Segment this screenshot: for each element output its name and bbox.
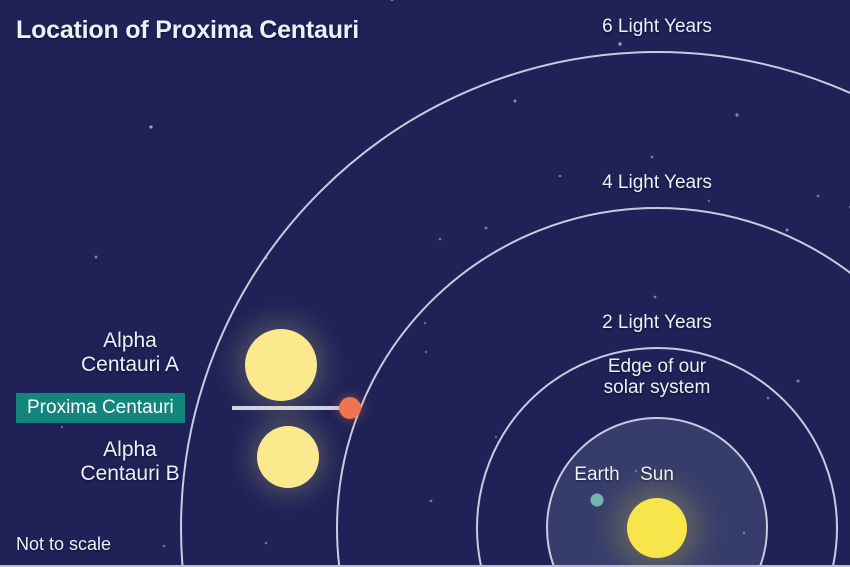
alpha-centauri-a-label: Alpha Centauri A (81, 329, 179, 376)
alpha-centauri-a-star (245, 329, 317, 401)
alpha-centauri-b-label: Alpha Centauri B (80, 438, 179, 485)
ring-label-4-light-years: 4 Light Years (602, 172, 712, 193)
earth-planet (591, 494, 604, 507)
solar-system-edge-label: Edge of our solar system (604, 356, 711, 399)
ring-label-2-light-years: 2 Light Years (602, 312, 712, 333)
alpha-centauri-b-star (257, 426, 319, 488)
diagram-canvas: Location of Proxima Centauri 6 Light Yea… (0, 0, 850, 567)
proxima-centauri-star[interactable] (339, 397, 361, 419)
sun-star (627, 498, 687, 558)
earth-label: Earth (574, 464, 619, 485)
proxima-connector-line (232, 406, 344, 410)
alpha-b-label-line-1: Alpha (80, 438, 179, 462)
page-title: Location of Proxima Centauri (16, 16, 359, 44)
edge-label-line-1: Edge of our (604, 356, 711, 377)
alpha-a-label-line-1: Alpha (81, 329, 179, 353)
alpha-a-label-line-2: Centauri A (81, 353, 179, 377)
sun-label: Sun (640, 464, 674, 485)
edge-label-line-2: solar system (604, 377, 711, 398)
proxima-centauri-badge[interactable]: Proxima Centauri (16, 393, 185, 423)
ring-label-6-light-years: 6 Light Years (602, 16, 712, 37)
alpha-b-label-line-2: Centauri B (80, 462, 179, 486)
not-to-scale-note: Not to scale (16, 534, 111, 554)
